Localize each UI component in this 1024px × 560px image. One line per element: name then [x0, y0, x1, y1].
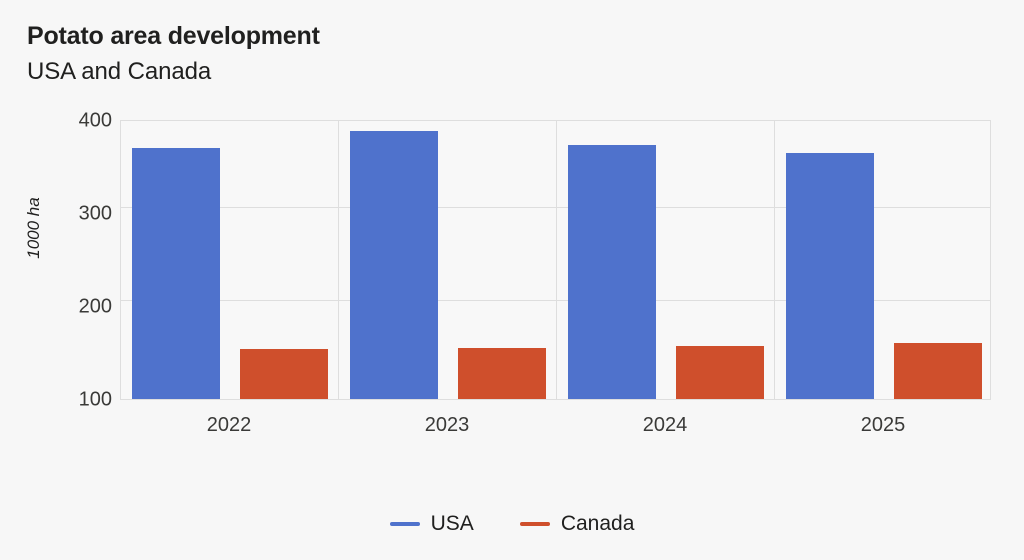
legend-item-usa[interactable]: USA	[390, 512, 474, 536]
y-tick-label-100: 100	[8, 389, 112, 412]
bar-usa-2024[interactable]	[568, 145, 656, 399]
legend-item-canada[interactable]: Canada	[520, 512, 635, 536]
legend-label-canada: Canada	[561, 512, 635, 536]
plot-area	[120, 120, 991, 400]
x-tick-label-2024: 2024	[555, 414, 775, 437]
chart-legend: USA Canada	[0, 512, 1024, 536]
bar-canada-2025[interactable]	[894, 343, 982, 399]
x-tick-label-2022: 2022	[119, 414, 339, 437]
y-axis: 400 300 200 100 1000 ha	[0, 0, 112, 560]
y-tick-label-200: 200	[8, 296, 112, 319]
bar-usa-2023[interactable]	[350, 131, 438, 399]
bar-canada-2022[interactable]	[240, 349, 328, 399]
y-axis-title: 1000 ha	[24, 168, 44, 288]
group-separator-2	[556, 121, 557, 399]
group-separator-3	[774, 121, 775, 399]
group-separator-1	[338, 121, 339, 399]
y-tick-label-400: 400	[8, 110, 112, 133]
bar-canada-2024[interactable]	[676, 346, 764, 399]
legend-swatch-usa	[390, 522, 420, 526]
bar-usa-2022[interactable]	[132, 148, 220, 399]
bar-canada-2023[interactable]	[458, 348, 546, 399]
x-tick-label-2025: 2025	[773, 414, 993, 437]
bar-usa-2025[interactable]	[786, 153, 874, 399]
legend-label-usa: USA	[431, 512, 474, 536]
legend-swatch-canada	[520, 522, 550, 526]
x-tick-label-2023: 2023	[337, 414, 557, 437]
